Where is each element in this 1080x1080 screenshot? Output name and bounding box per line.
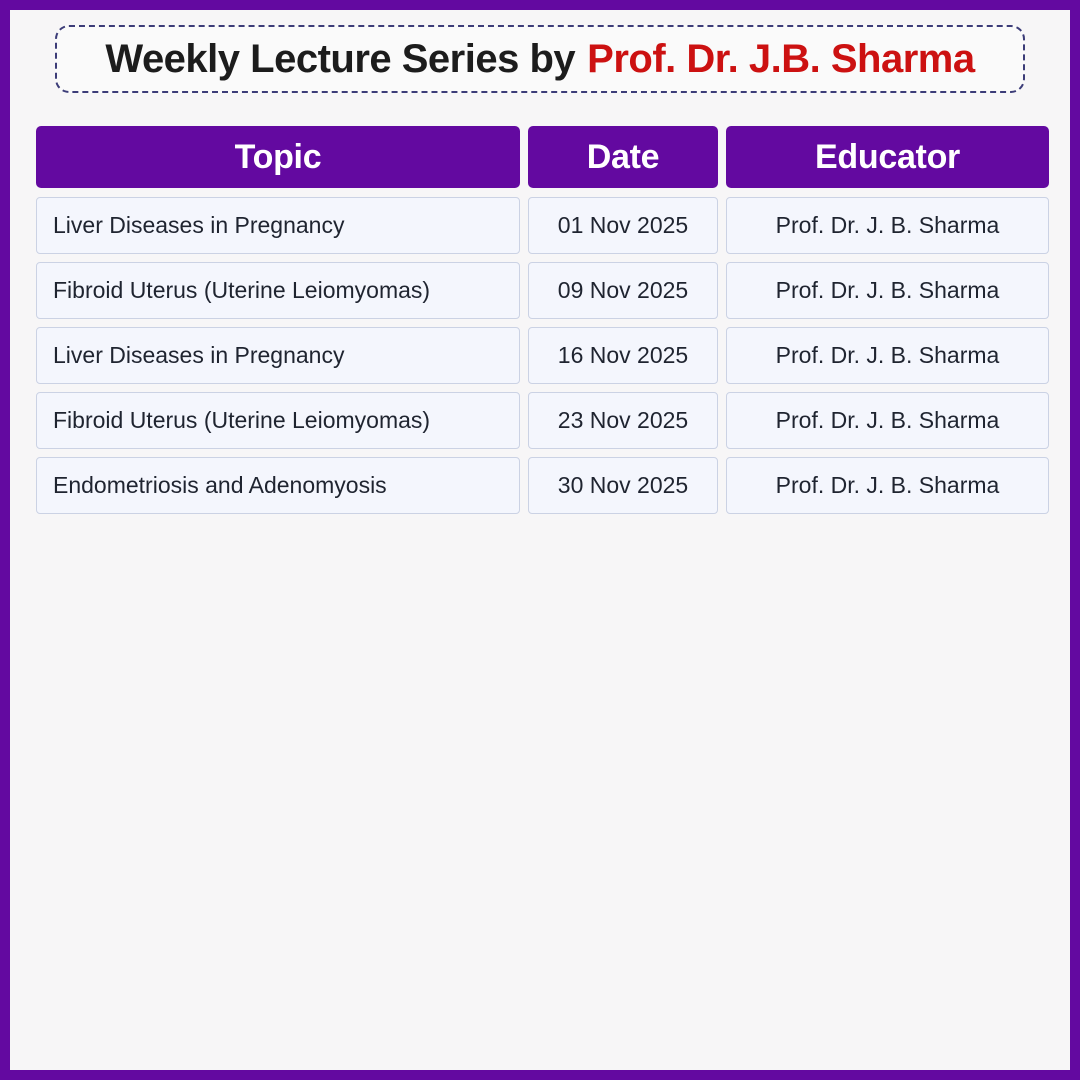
table-row: Fibroid Uterus (Uterine Leiomyomas) 09 N… xyxy=(36,262,1045,319)
column-header-date[interactable]: Date xyxy=(528,126,718,188)
cell-educator: Prof. Dr. J. B. Sharma xyxy=(726,197,1049,254)
page-purple-frame: Weekly Lecture Series by Prof. Dr. J.B. … xyxy=(0,0,1080,1080)
lecture-schedule-table: Topic Date Educator Liver Diseases in Pr… xyxy=(36,126,1045,522)
cell-topic: Liver Diseases in Pregnancy xyxy=(36,197,520,254)
table-row: Fibroid Uterus (Uterine Leiomyomas) 23 N… xyxy=(36,392,1045,449)
title-accent-text: Prof. Dr. J.B. Sharma xyxy=(587,39,974,79)
page-canvas: Weekly Lecture Series by Prof. Dr. J.B. … xyxy=(10,10,1070,1070)
cell-topic: Endometriosis and Adenomyosis xyxy=(36,457,520,514)
table-row: Liver Diseases in Pregnancy 16 Nov 2025 … xyxy=(36,327,1045,384)
cell-date: 09 Nov 2025 xyxy=(528,262,718,319)
cell-date: 30 Nov 2025 xyxy=(528,457,718,514)
cell-topic: Liver Diseases in Pregnancy xyxy=(36,327,520,384)
cell-topic: Fibroid Uterus (Uterine Leiomyomas) xyxy=(36,262,520,319)
cell-educator: Prof. Dr. J. B. Sharma xyxy=(726,392,1049,449)
cell-educator: Prof. Dr. J. B. Sharma xyxy=(726,327,1049,384)
cell-date: 23 Nov 2025 xyxy=(528,392,718,449)
title-lead-text: Weekly Lecture Series by xyxy=(105,39,575,79)
title-banner: Weekly Lecture Series by Prof. Dr. J.B. … xyxy=(55,25,1025,93)
cell-topic: Fibroid Uterus (Uterine Leiomyomas) xyxy=(36,392,520,449)
cell-date: 01 Nov 2025 xyxy=(528,197,718,254)
column-header-topic[interactable]: Topic xyxy=(36,126,520,188)
cell-date: 16 Nov 2025 xyxy=(528,327,718,384)
table-row: Liver Diseases in Pregnancy 01 Nov 2025 … xyxy=(36,197,1045,254)
cell-educator: Prof. Dr. J. B. Sharma xyxy=(726,262,1049,319)
column-header-educator[interactable]: Educator xyxy=(726,126,1049,188)
table-row: Endometriosis and Adenomyosis 30 Nov 202… xyxy=(36,457,1045,514)
table-header-row: Topic Date Educator xyxy=(36,126,1045,188)
cell-educator: Prof. Dr. J. B. Sharma xyxy=(726,457,1049,514)
